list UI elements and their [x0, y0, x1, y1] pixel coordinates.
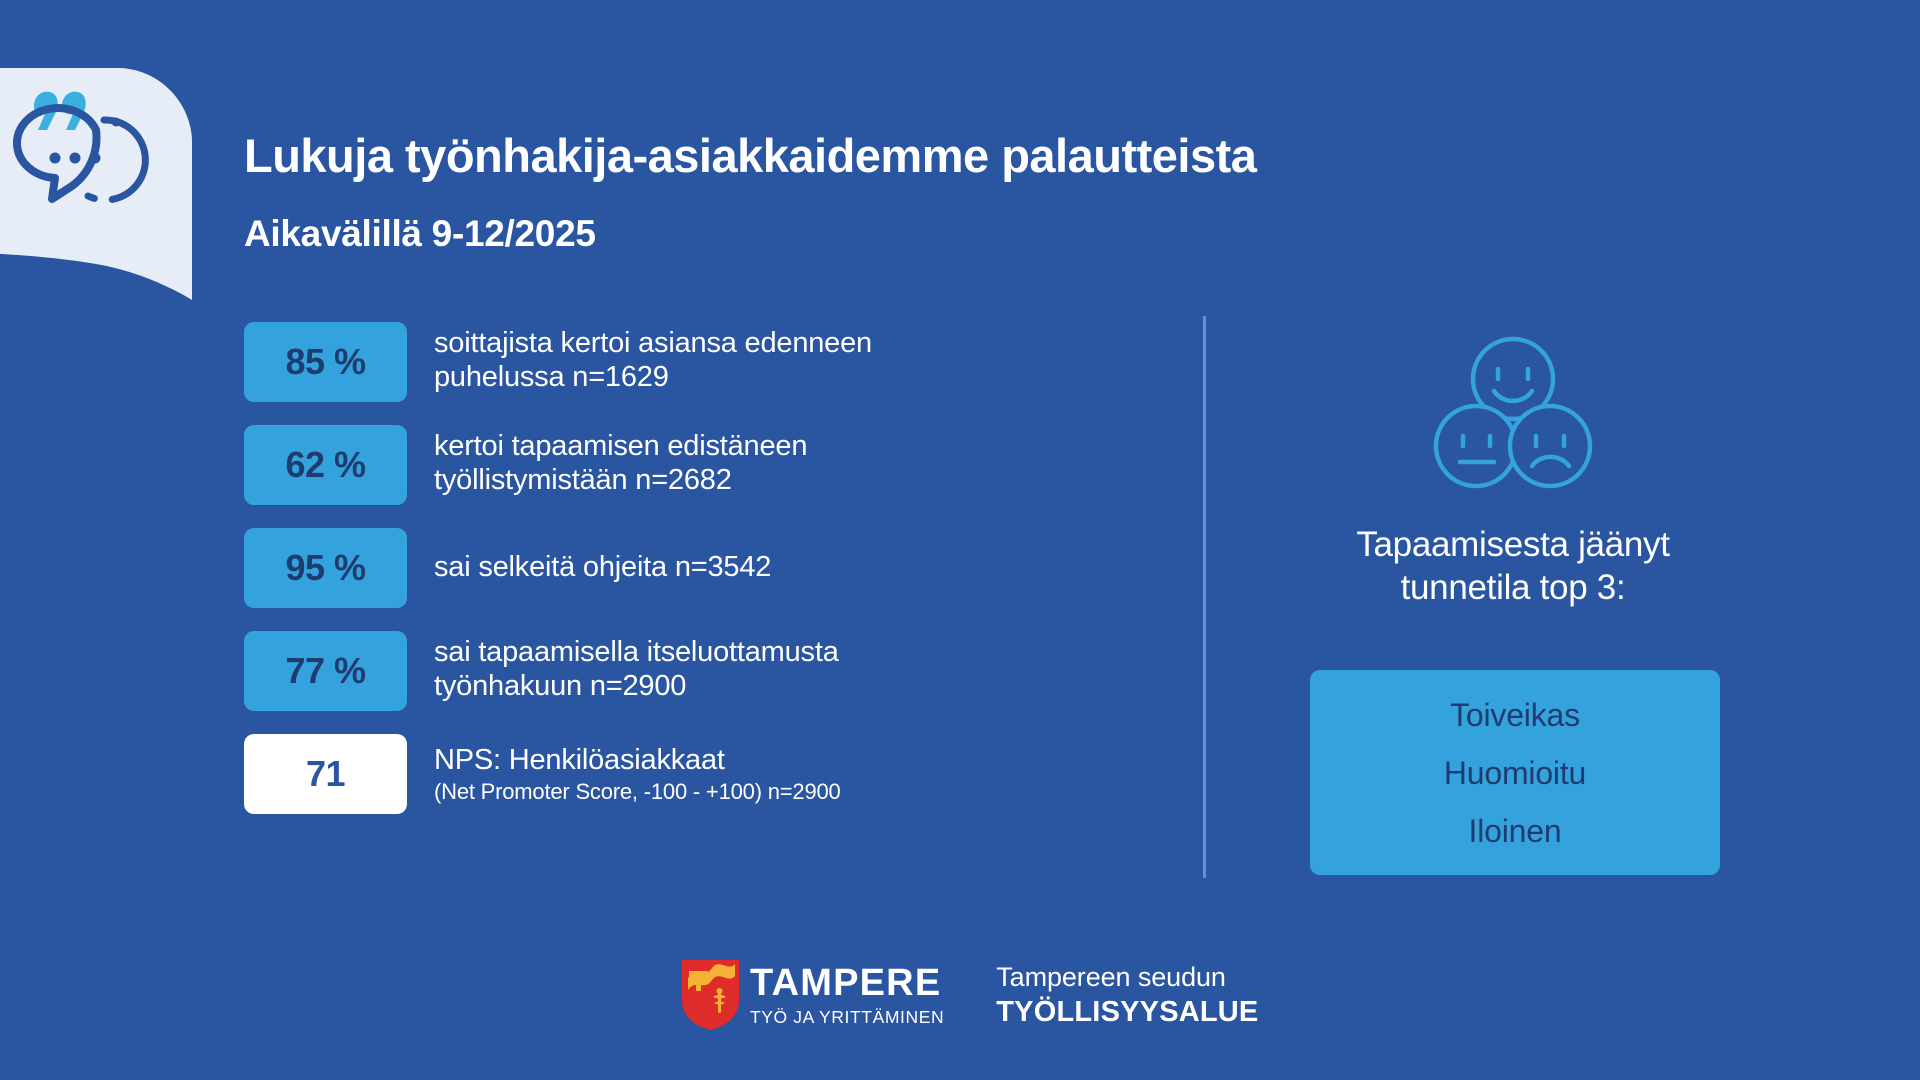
- stat-description-line1: kertoi tapaamisen edistäneen: [434, 430, 807, 462]
- emotions-heading-line1: Tapaamisesta jäänyt: [1356, 525, 1669, 564]
- tampere-main-text: TAMPERE: [750, 964, 944, 1002]
- stat-description: soittajista kertoi asiansa edenneen puhe…: [434, 322, 872, 394]
- stat-description-line1: sai tapaamisella itseluottamusta: [434, 636, 839, 668]
- seudun-line2-text: TYÖLLISYYSALUE: [996, 998, 1258, 1027]
- faces-icon-group: [1428, 336, 1598, 496]
- sad-face-icon: [1510, 406, 1590, 486]
- emotions-box: Toiveikas Huomioitu Iloinen: [1310, 670, 1720, 875]
- stat-description-line2: työllistymistään n=2682: [434, 464, 732, 496]
- emotion-item: Toiveikas: [1450, 699, 1580, 731]
- nps-description: NPS: Henkilöasiakkaat (Net Promoter Scor…: [434, 734, 841, 806]
- seudun-line1-text: Tampereen seudun: [996, 964, 1258, 991]
- stat-value-badge: 62 %: [244, 425, 407, 505]
- stat-description-line1: soittajista kertoi asiansa edenneen: [434, 327, 872, 359]
- emotions-heading: Tapaamisesta jäänyt tunnetila top 3:: [1253, 524, 1773, 609]
- stat-description-line2: työnhakuun n=2900: [434, 670, 686, 702]
- emotion-item: Iloinen: [1469, 815, 1562, 847]
- tampere-coat-of-arms-icon: [682, 960, 739, 1030]
- tyollisyysalue-wordmark: Tampereen seudun TYÖLLISYYSALUE: [996, 964, 1258, 1027]
- emotion-item: Huomioitu: [1444, 757, 1586, 789]
- neutral-face-icon: [1436, 406, 1516, 486]
- emotions-heading-line2: tunnetila top 3:: [1401, 568, 1626, 607]
- stat-description: sai selkeitä ohjeita n=3542: [434, 528, 771, 584]
- stat-row: 77 % sai tapaamisella itseluottamusta ty…: [244, 631, 1144, 711]
- vertical-divider: [1203, 316, 1206, 878]
- page-title: Lukuja työnhakija-asiakkaidemme palautte…: [244, 128, 1256, 183]
- stats-list: 85 % soittajista kertoi asiansa edenneen…: [244, 322, 1144, 814]
- nps-description-line1: NPS: Henkilöasiakkaat: [434, 744, 725, 776]
- stat-description-line2: puhelussa n=1629: [434, 361, 669, 393]
- stat-description-line1: sai selkeitä ohjeita n=3542: [434, 551, 771, 583]
- nps-description-line2: (Net Promoter Score, -100 - +100) n=2900: [434, 778, 841, 806]
- stat-value-badge: 95 %: [244, 528, 407, 608]
- stat-row: 62 % kertoi tapaamisen edistäneen työlli…: [244, 425, 1144, 505]
- stat-description: kertoi tapaamisen edistäneen työllistymi…: [434, 425, 807, 497]
- footer-logos: TAMPERE TYÖ JA YRITTÄMINEN Tampereen seu…: [682, 960, 1258, 1030]
- stat-description: sai tapaamisella itseluottamusta työnhak…: [434, 631, 839, 703]
- stat-value-badge: 85 %: [244, 322, 407, 402]
- stat-row: 95 % sai selkeitä ohjeita n=3542: [244, 528, 1144, 608]
- nps-value-badge: 71: [244, 734, 407, 814]
- stat-value-badge: 77 %: [244, 631, 407, 711]
- tampere-wordmark: TAMPERE TYÖ JA YRITTÄMINEN: [750, 964, 944, 1027]
- stat-row: 85 % soittajista kertoi asiansa edenneen…: [244, 322, 1144, 402]
- tampere-tagline-text: TYÖ JA YRITTÄMINEN: [750, 1009, 944, 1027]
- speech-bubble-badge: [0, 68, 192, 300]
- stat-row-nps: 71 NPS: Henkilöasiakkaat (Net Promoter S…: [244, 734, 1144, 814]
- infographic-canvas: Lukuja työnhakija-asiakkaidemme palautte…: [0, 0, 1920, 1080]
- page-subtitle: Aikavälillä 9-12/2025: [244, 213, 596, 255]
